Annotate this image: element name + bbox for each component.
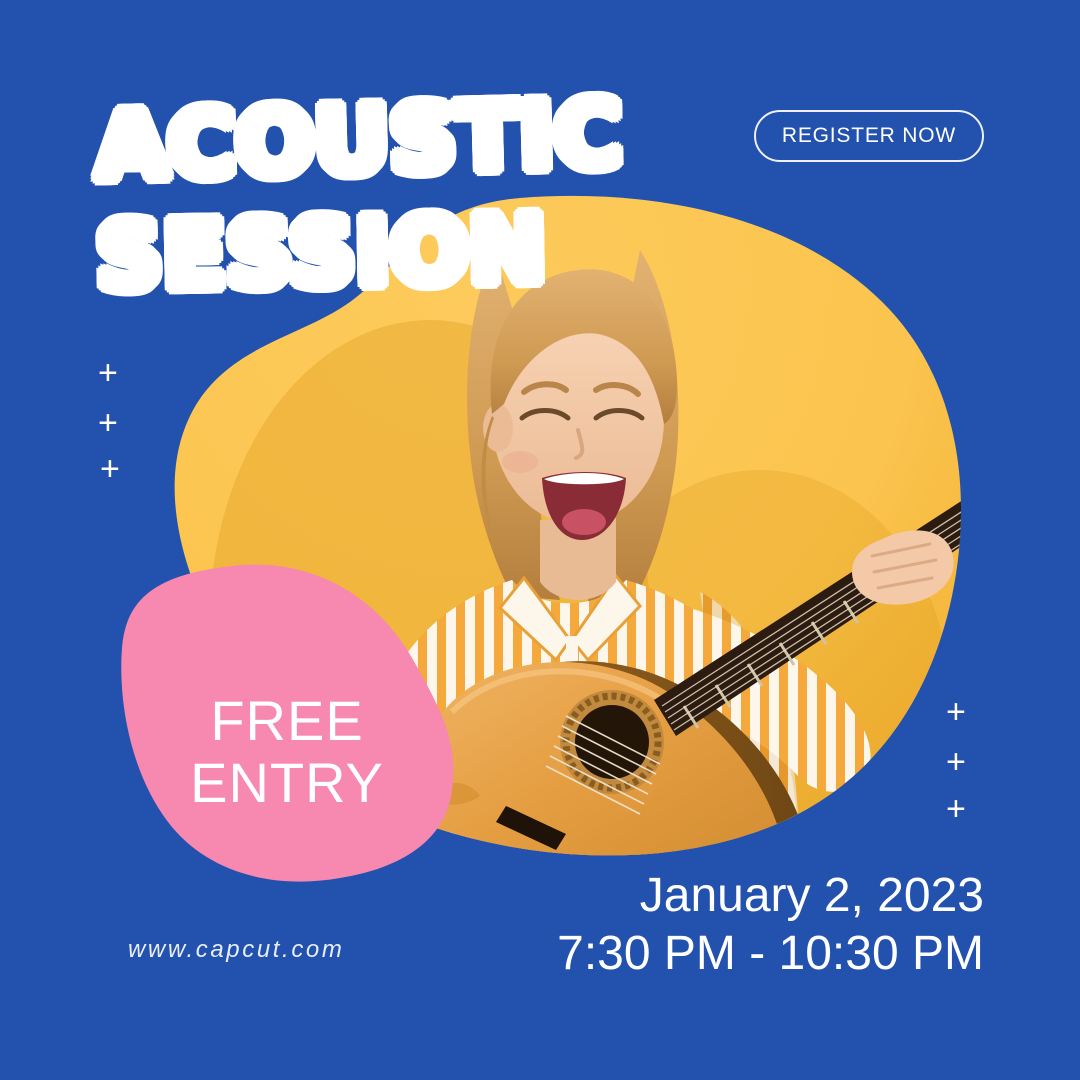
event-date: January 2, 2023 [557,867,984,926]
plus-decoration-right-2: + [946,745,966,779]
plus-decoration-right-1: + [946,695,966,729]
plus-decoration-right-3: + [946,792,966,826]
pink-blob [121,565,453,882]
plus-decoration-left-3: + [100,452,120,486]
website-url[interactable]: www.capcut.com [128,936,344,964]
plus-decoration-left-2: + [98,406,118,440]
poster-canvas: ACOUSTIC SESSION REGISTER NOW + + + + + … [0,0,1080,1080]
register-now-button[interactable]: REGISTER NOW [754,110,984,162]
plus-decoration-left-1: + [98,356,118,390]
event-datetime: January 2, 2023 7:30 PM - 10:30 PM [557,867,984,984]
event-time: 7:30 PM - 10:30 PM [557,925,984,984]
